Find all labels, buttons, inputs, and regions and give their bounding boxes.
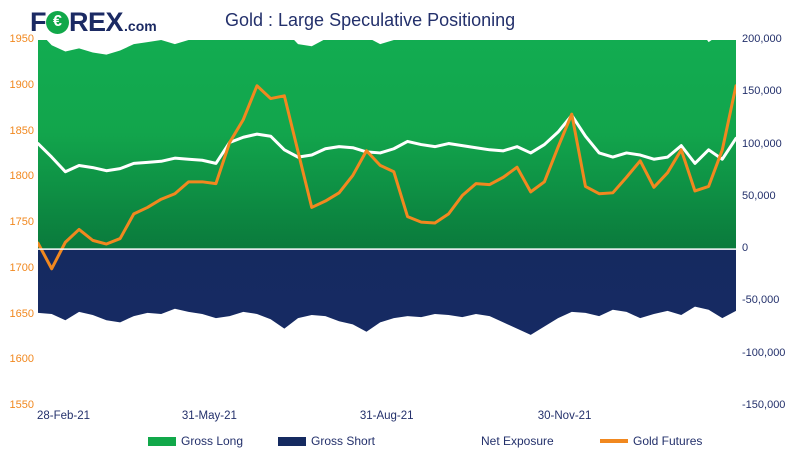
left-axis-tick: 1600 xyxy=(10,353,34,365)
legend-label: Gross Short xyxy=(311,434,375,448)
right-axis-tick: 100,000 xyxy=(742,138,782,150)
legend-label: Gold Futures xyxy=(633,434,702,448)
chart-header: F € REX .com Gold : Large Speculative Po… xyxy=(0,0,800,40)
legend-swatch-gross-short-icon xyxy=(278,437,306,446)
x-axis-tick: 31-Aug-21 xyxy=(360,410,414,422)
left-axis-tick: 1900 xyxy=(10,79,34,91)
right-axis-tick: 50,000 xyxy=(742,190,776,202)
euro-glyph: € xyxy=(46,11,69,34)
legend-item-gross-long[interactable]: Gross Long xyxy=(148,432,243,450)
x-axis-tick: 30-Nov-21 xyxy=(538,410,592,422)
right-axis-tick: 200,000 xyxy=(742,33,782,45)
legend-swatch-gold-futures-icon xyxy=(600,439,628,443)
legend-swatch-net-exposure-icon xyxy=(448,439,476,443)
logo-letters-rex: REX xyxy=(69,9,123,36)
logo-suffix-com: .com xyxy=(124,19,157,33)
logo-euro-circle-icon: € xyxy=(46,11,69,34)
gross-long-area xyxy=(38,40,736,249)
chart-page: F € REX .com Gold : Large Speculative Po… xyxy=(0,0,800,457)
forex-com-logo: F € REX .com xyxy=(30,9,157,35)
legend-item-net-exposure[interactable]: Net Exposure xyxy=(448,432,554,450)
right-axis-tick: -100,000 xyxy=(742,347,785,359)
chart-svg xyxy=(38,40,736,406)
left-axis-tick: 1550 xyxy=(10,399,34,411)
legend-item-gold-futures[interactable]: Gold Futures xyxy=(600,432,702,450)
page-title: Gold : Large Speculative Positioning xyxy=(225,10,515,31)
right-axis-tick: 150,000 xyxy=(742,85,782,97)
left-axis-tick: 1750 xyxy=(10,216,34,228)
x-axis-tick: 28-Feb-21 xyxy=(37,410,90,422)
left-axis-tick: 1950 xyxy=(10,33,34,45)
gross-short-area xyxy=(38,249,736,335)
x-axis-tick: 31-May-21 xyxy=(182,410,237,422)
right-axis-tick: 0 xyxy=(742,242,748,254)
legend-label: Net Exposure xyxy=(481,434,554,448)
logo-letter-f: F xyxy=(30,9,46,36)
left-axis-tick: 1850 xyxy=(10,125,34,137)
left-axis-tick: 1700 xyxy=(10,262,34,274)
plot-container: 155016001650170017501800185019001950 -15… xyxy=(0,38,800,408)
chart-legend: Gross LongGross ShortNet ExposureGold Fu… xyxy=(0,430,800,454)
left-axis-tick: 1800 xyxy=(10,170,34,182)
legend-item-gross-short[interactable]: Gross Short xyxy=(278,432,375,450)
right-axis-tick: -150,000 xyxy=(742,399,785,411)
plot-area xyxy=(38,40,736,406)
right-axis-tick: -50,000 xyxy=(742,294,779,306)
left-axis-tick: 1650 xyxy=(10,308,34,320)
legend-swatch-gross-long-icon xyxy=(148,437,176,446)
legend-label: Gross Long xyxy=(181,434,243,448)
